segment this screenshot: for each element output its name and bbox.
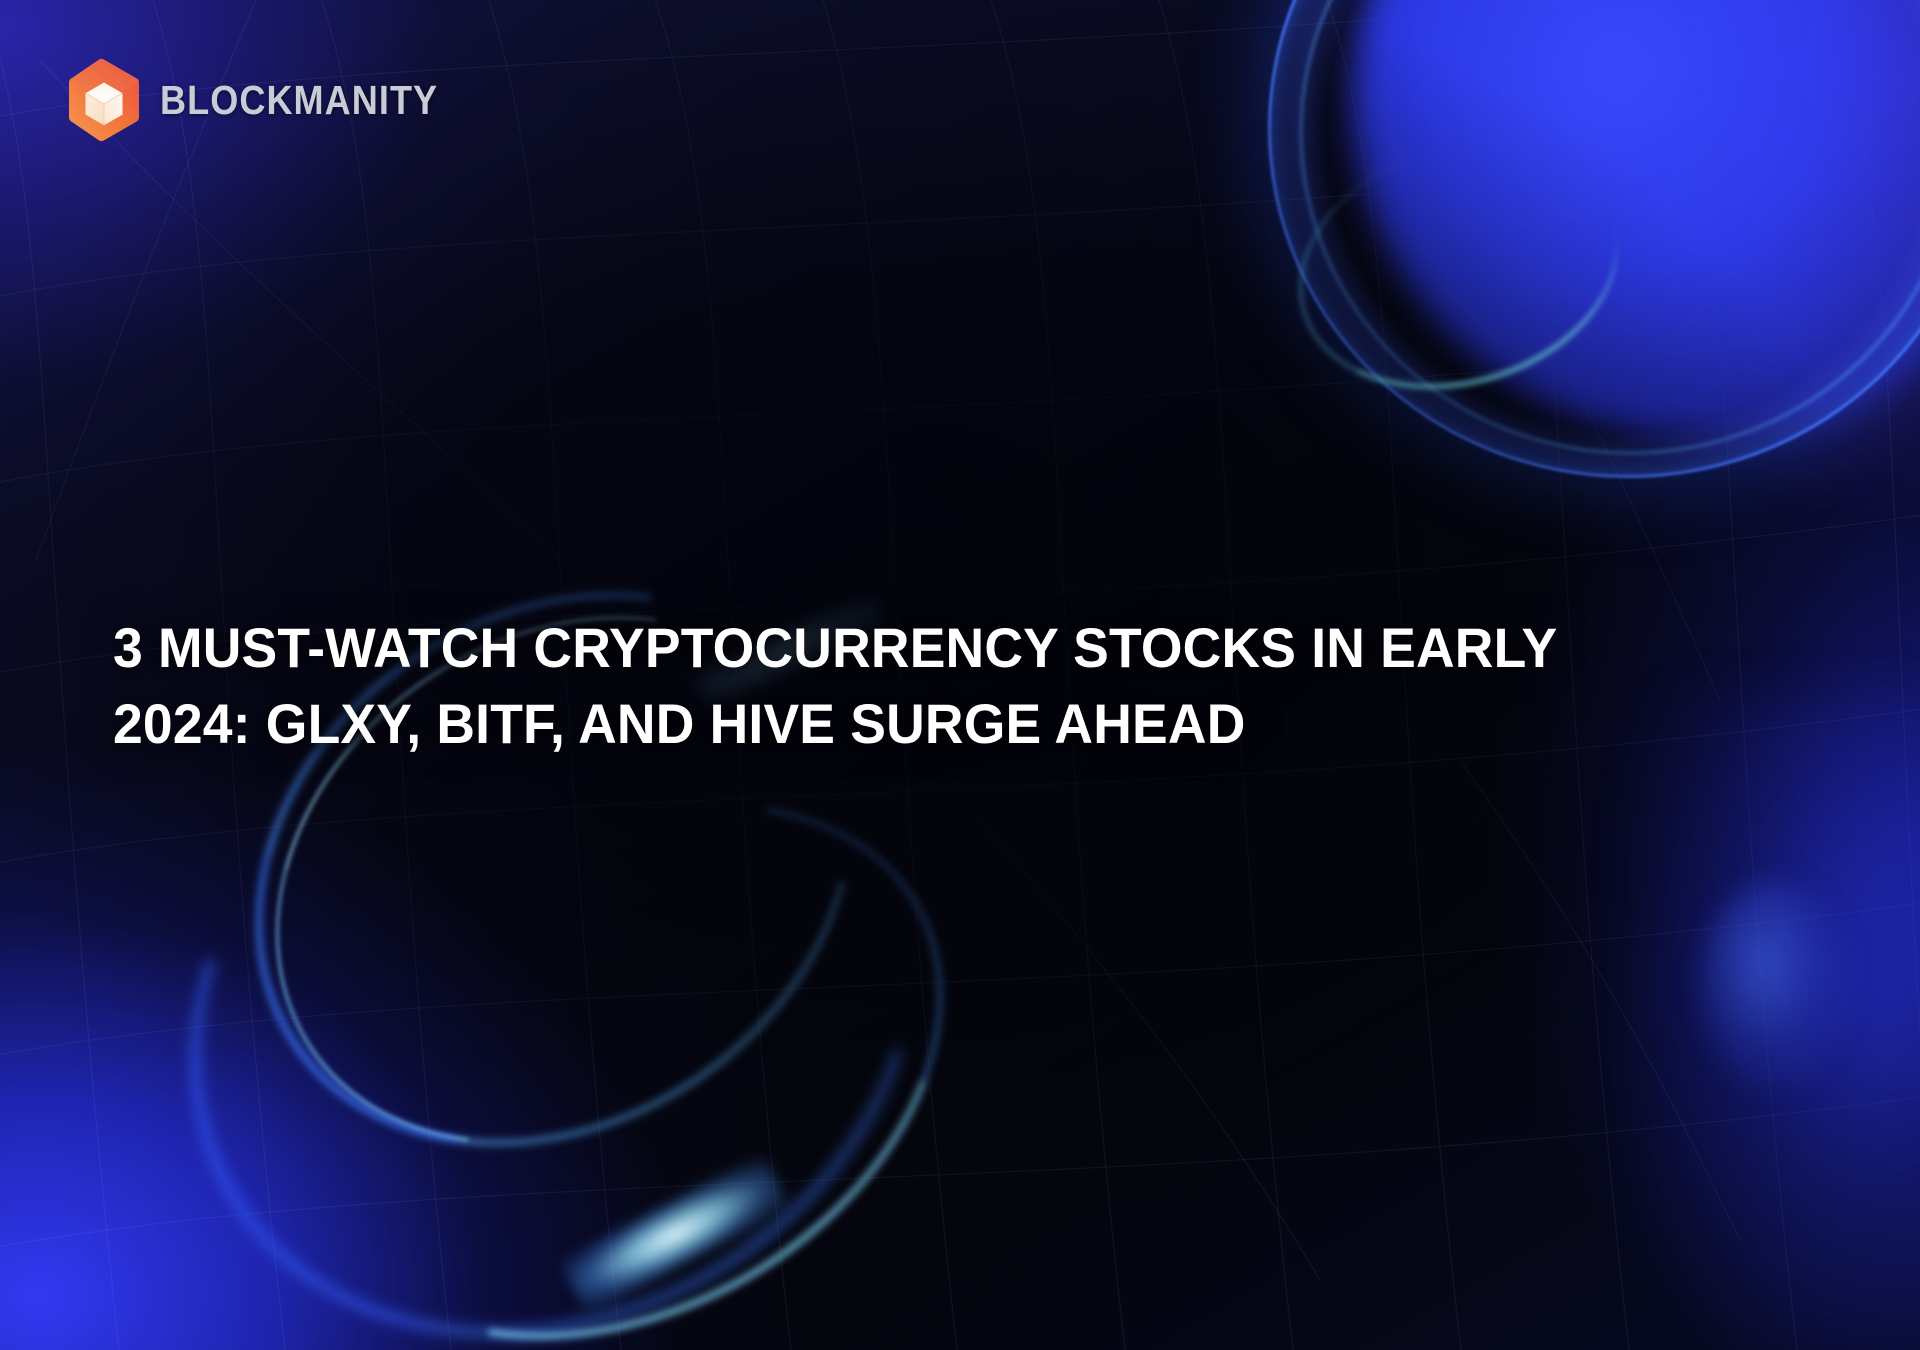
- article-headline: 3 Must-Watch Cryptocurrency Stocks in Ea…: [113, 610, 1679, 763]
- cube-hexagon-icon: [66, 58, 142, 142]
- glow-wisp-right: [1700, 880, 1850, 1090]
- article-hero-banner: BLOCKMANITY 3 Must-Watch Cryptocurrency …: [0, 0, 1920, 1350]
- site-logo[interactable]: BLOCKMANITY: [66, 58, 476, 142]
- site-logo-wordmark: BLOCKMANITY: [160, 80, 438, 121]
